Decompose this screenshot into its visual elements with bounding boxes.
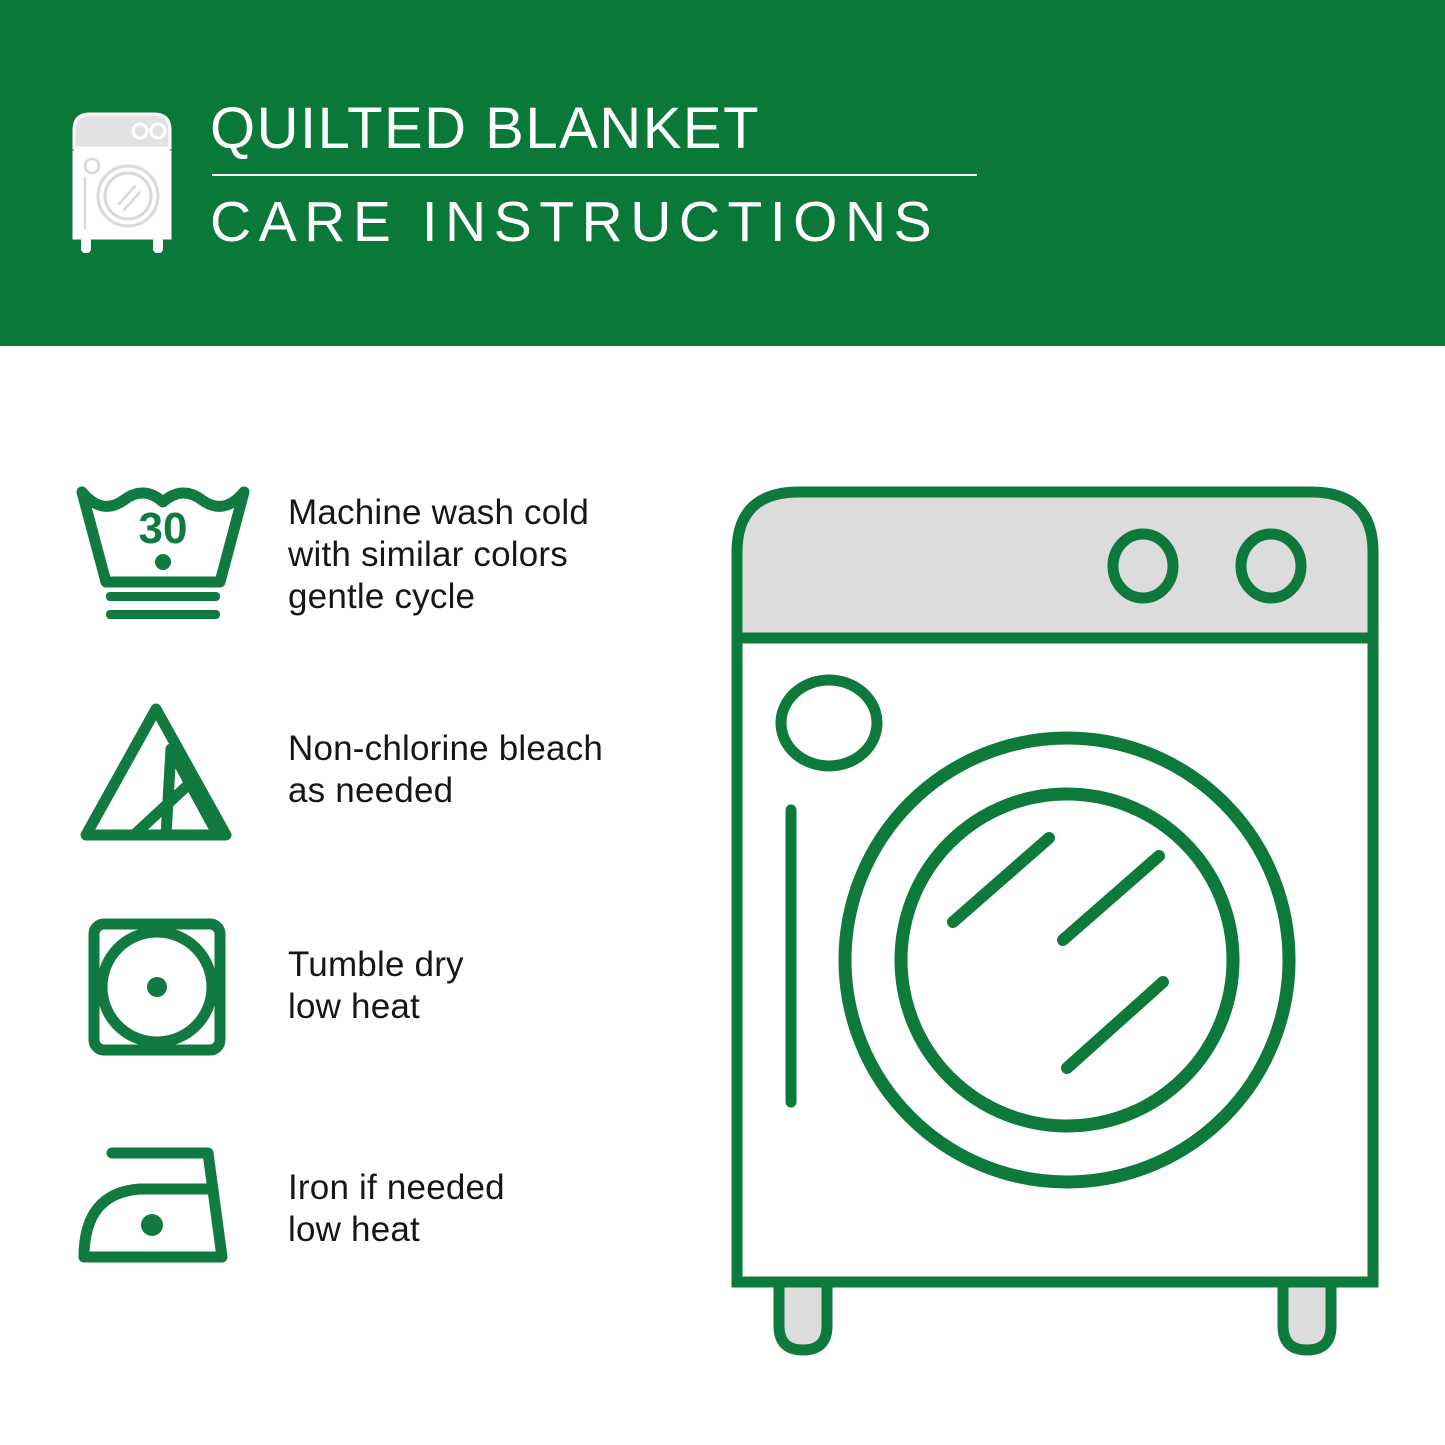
care-text-line: with similar colors <box>288 534 700 576</box>
care-instruction-text: Iron if needed low heat <box>288 1167 700 1251</box>
care-instruction-list: 30 Machine wash cold with similar colors… <box>60 470 700 1330</box>
title-divider <box>212 174 977 176</box>
front-load-washing-machine-illustration <box>715 470 1395 1370</box>
care-text-line: Non-chlorine bleach <box>288 728 700 770</box>
care-instruction-text: Tumble dry low heat <box>288 944 700 1028</box>
care-text-line: Machine wash cold <box>288 492 700 534</box>
care-instruction-item: Non-chlorine bleach as needed <box>60 685 700 900</box>
header-band: QUILTED BLANKET CARE INSTRUCTIONS <box>0 0 1445 346</box>
dial-left <box>1113 534 1173 598</box>
iron-low-heat-icon <box>66 1141 256 1306</box>
care-instruction-text: Non-chlorine bleach as needed <box>288 728 700 812</box>
wash-temperature-label: 30 <box>139 504 188 553</box>
wash-tub-30-gentle-icon: 30 <box>68 470 258 635</box>
page-subtitle: CARE INSTRUCTIONS <box>210 190 1046 254</box>
header-content: QUILTED BLANKET CARE INSTRUCTIONS <box>62 96 1022 266</box>
care-instruction-item: Tumble dry low heat <box>60 900 700 1115</box>
care-instruction-item: 30 Machine wash cold with similar colors… <box>60 470 700 685</box>
care-text-line: as needed <box>288 770 700 812</box>
care-text-line: Iron if needed <box>288 1167 700 1209</box>
detergent-port <box>781 680 877 766</box>
care-instructions-infographic: QUILTED BLANKET CARE INSTRUCTIONS 30 Mac… <box>0 0 1445 1445</box>
care-instruction-text: Machine wash cold with similar colors ge… <box>288 492 700 618</box>
leg-left <box>779 1282 827 1350</box>
door-inner-ring <box>901 794 1233 1126</box>
care-instruction-item: Iron if needed low heat <box>60 1115 700 1330</box>
non-chlorine-bleach-triangle-icon <box>68 697 258 862</box>
page-title: QUILTED BLANKET <box>210 96 1046 162</box>
care-text-line: low heat <box>288 986 700 1028</box>
washing-machine-icon <box>62 104 182 256</box>
leg-right <box>1283 1282 1331 1350</box>
care-text-line: Tumble dry <box>288 944 700 986</box>
tumble-dry-low-icon <box>80 912 240 1077</box>
dial-right <box>1241 534 1301 598</box>
care-text-line: gentle cycle <box>288 576 700 618</box>
header-titles: QUILTED BLANKET CARE INSTRUCTIONS <box>210 96 1046 254</box>
care-text-line: low heat <box>288 1209 700 1251</box>
